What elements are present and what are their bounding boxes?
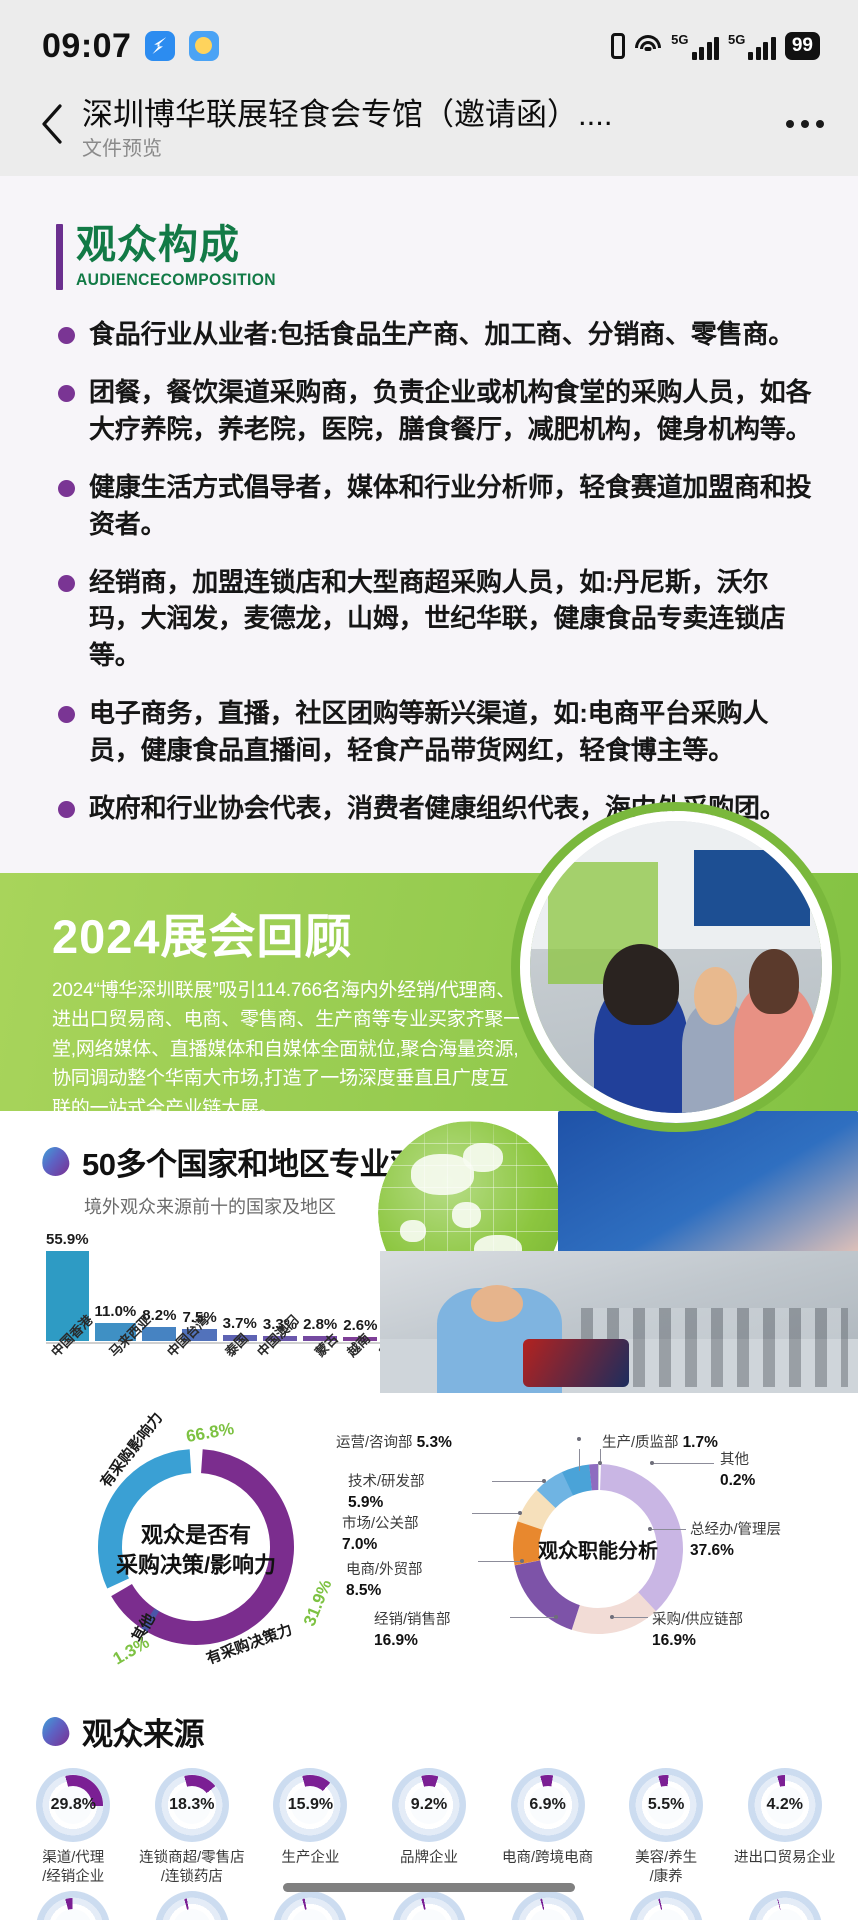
bullet-text: 团餐，餐饮渠道采购商，负责企业或机构食堂的采购人员，如各大疗养院，养老院，医院，… [89,374,814,448]
source-item: 0.4%投融资/金融机构 [725,1891,844,1920]
wifi-icon [634,35,662,57]
sources-title: 观众来源 [82,1709,204,1754]
source-percent-value: 0.4% [748,1891,822,1920]
battery-icon: 99 [785,32,820,60]
bullet-dot-icon [58,480,75,497]
source-item: 3.9%微商/社群团购 [14,1891,133,1920]
callout-label: 技术/研发部 [348,1473,425,1493]
bar-value-label: 11.0% [95,1303,137,1320]
document-preview[interactable]: 观众构成 AUDIENCECOMPOSITION 食品行业从业者:包括食品生产商… [0,176,858,1920]
review-paragraph: 2024“博华深圳联展”吸引114.766名海内外经销/代理商、进出口贸易商、电… [52,976,522,1123]
source-label: 进出口贸易企业 [734,1849,836,1868]
source-percent-value: 1.0% [511,1891,585,1920]
callout-label: 电商/外贸部 [346,1561,423,1581]
more-options-button[interactable] [770,94,824,128]
source-item: 1.0%高校/科研机构/政府/协会/领事馆 [488,1891,607,1920]
source-label: 品牌企业 [400,1849,458,1868]
bar-column: 2.8% [303,1231,337,1341]
bullet-dot-icon [58,327,75,344]
app-badge-icon-2 [189,31,219,61]
crowd-photo [380,1251,858,1393]
source-percent-value: 3.9% [36,1891,110,1920]
callout-market: 市场/公关部 7.0% [342,1515,419,1555]
callout-value: 5.3% [417,1434,452,1451]
signal-icon-1: 5G [671,33,719,60]
bullet-text: 电子商务，直播，社区团购等新兴渠道，如:电商平台采购人员，健康食品直播间，轻食产… [89,695,814,769]
review-title: 2024展会回顾 [52,913,520,960]
status-bar: 09:07 5G 5G 99 [0,0,858,92]
source-percent-value: 4.2% [748,1768,822,1842]
source-ring-gauge: 3.9% [36,1891,110,1920]
donut-center-line2: 采购决策/影响力 [106,1550,286,1580]
chart-x-labels: 中国香港马来西亚中国台湾泰国中国澳门蒙古越南印度尼西亚韩国美国 [46,1347,426,1407]
donut-center-line1: 观众是否有 [106,1520,286,1550]
callout-operations: 运营/咨询部 5.3% [336,1433,452,1454]
bar-chart: 55.9%11.0%8.2%7.5%3.7%3.3%2.8%2.6%2.5%2.… [46,1231,426,1341]
sources-title-row: 观众来源 [0,1709,858,1754]
callout-label: 经销/销售部 [374,1611,451,1631]
network-label-2: 5G [728,33,745,46]
callout-value: 1.7% [683,1434,718,1451]
source-label: 生产企业 [281,1849,339,1868]
list-item: 团餐，餐饮渠道采购商，负责企业或机构食堂的采购人员，如各大疗养院，养老院，医院，… [58,374,814,448]
page-title: 深圳博华联展轻食会专馆（邀请函）.... [82,96,770,134]
source-percent-value: 0.9% [629,1891,703,1920]
source-percent-value: 9.2% [392,1768,466,1842]
callout-value: 8.5% [346,1582,381,1599]
source-ring-gauge: 6.9% [511,1768,585,1842]
status-clock: 09:07 [42,27,131,66]
sources-grid: 29.8%渠道/代理/经销企业18.3%连锁商超/零售店/连锁药店15.9%生产… [0,1754,858,1920]
nav-title-group: 深圳博华联展轻食会专馆（邀请函）.... 文件预览 [76,94,770,161]
source-percent-value: 29.8% [36,1768,110,1842]
review-photo-circle [520,811,832,1123]
source-item: 1.3%直营店/专卖店 [251,1891,370,1920]
source-item: 6.9%电商/跨境电商 [488,1768,607,1887]
bar-category-label: 中国香港 [46,1347,98,1407]
bar-column: 2.6% [343,1231,377,1341]
source-ring-gauge: 0.9% [629,1891,703,1920]
source-item: 0.9%品牌设计/市场咨询 [607,1891,726,1920]
list-item: 食品行业从业者:包括食品生产商、加工商、分销商、零售商。 [58,316,814,353]
bullet-dot-icon [58,575,75,592]
phone-screen: 09:07 5G 5G 99 深圳博华联展轻食会专馆（邀请函）.... [0,0,858,1920]
donut-purchase-center-label: 观众是否有 采购决策/影响力 [106,1520,286,1579]
source-ring-gauge: 4.2% [748,1768,822,1842]
network-label-1: 5G [671,33,688,46]
callout-sales: 经销/销售部 16.9% [374,1611,451,1651]
source-item: 4.2%进出口贸易企业 [725,1768,844,1887]
source-item: 1.4%媒体/互联网/MCN [133,1891,252,1920]
home-indicator[interactable] [283,1883,575,1892]
source-ring-gauge: 18.3% [155,1768,229,1842]
back-button[interactable] [28,94,76,154]
status-bar-left: 09:07 [42,27,219,66]
signal-icon-2: 5G [728,33,776,60]
source-percent-value: 1.3% [392,1891,466,1920]
source-percent-value: 15.9% [273,1768,347,1842]
source-percent-value: 1.3% [273,1891,347,1920]
source-item: 9.2%品牌企业 [370,1768,489,1887]
status-bar-right: 5G 5G 99 [611,32,820,60]
callout-management: 总经办/管理层 37.6% [690,1521,781,1561]
list-item: 经销商，加盟连锁店和大型商超采购人员，如:丹尼斯，沃尔玛，大润发，麦德龙，山姆，… [58,564,814,675]
more-horizontal-icon [786,120,794,128]
source-label: 连锁商超/零售店/连锁药店 [139,1849,245,1887]
booth-photo [558,1111,858,1266]
callout-production: 生产/质监部 1.7% [602,1433,718,1454]
heading-accent-bar [56,224,63,290]
callout-value: 7.0% [342,1536,377,1553]
callout-label: 其他 [720,1451,755,1471]
chevron-left-icon [40,103,64,145]
source-ring-gauge: 15.9% [273,1768,347,1842]
bullet-text: 食品行业从业者:包括食品生产商、加工商、分销商、零售商。 [89,316,794,353]
source-item: 15.9%生产企业 [251,1768,370,1887]
audience-heading-zh: 观众构成 [76,224,293,266]
source-ring-gauge: 9.2% [392,1768,466,1842]
callout-tech: 技术/研发部 5.9% [348,1473,425,1513]
source-ring-gauge: 1.4% [155,1891,229,1920]
droplet-icon [40,1715,72,1748]
bullet-dot-icon [58,706,75,723]
bullet-text: 健康生活方式倡导者，媒体和行业分析师，轻食赛道加盟商和投资者。 [89,469,814,543]
bullet-dot-icon [58,385,75,402]
source-percent-value: 6.9% [511,1768,585,1842]
source-item: 29.8%渠道/代理/经销企业 [14,1768,133,1887]
callout-value: 16.9% [374,1632,418,1649]
source-ring-gauge: 1.3% [392,1891,466,1920]
callout-other: 其他 0.2% [720,1451,755,1491]
section-audience-composition: 观众构成 AUDIENCECOMPOSITION 食品行业从业者:包括食品生产商… [0,176,858,873]
audience-heading: 观众构成 AUDIENCECOMPOSITION [56,224,858,290]
callout-value: 16.9% [652,1632,696,1649]
callout-label: 运营/咨询部 [336,1435,413,1451]
source-ring-gauge: 29.8% [36,1768,110,1842]
source-ring-gauge: 5.5% [629,1768,703,1842]
source-ring-gauge: 0.4% [748,1891,822,1920]
bar-column: 3.7% [223,1231,257,1341]
list-item: 健康生活方式倡导者，媒体和行业分析师，轻食赛道加盟商和投资者。 [58,469,814,543]
source-ring-gauge: 1.3% [273,1891,347,1920]
callout-value: 5.9% [348,1494,383,1511]
source-item: 18.3%连锁商超/零售店/连锁药店 [133,1768,252,1887]
callout-label: 采购/供应链部 [652,1611,743,1631]
bullet-text: 经销商，加盟连锁店和大型商超采购人员，如:丹尼斯，沃尔玛，大润发，麦德龙，山姆，… [89,564,814,675]
source-item: 1.3%包装/供应链/物流 [370,1891,489,1920]
source-percent-value: 18.3% [155,1768,229,1842]
callout-label: 总经办/管理层 [690,1521,781,1541]
page-subtitle: 文件预览 [82,137,770,161]
source-label: 电商/跨境电商 [502,1849,593,1868]
source-percent-value: 1.4% [155,1891,229,1920]
section-donut-charts: 观众是否有 采购决策/影响力 有采购影响力 66.8% 有采购决策力 31.9%… [0,1411,858,1703]
source-label: 渠道/代理/经销企业 [42,1849,104,1887]
section-countries-bar-chart: 50多个国家和地区专业观众 境外观众来源前十的国家及地区 55.9%11.0%8… [0,1111,858,1411]
callout-value: 37.6% [690,1542,734,1559]
source-ring-gauge: 1.0% [511,1891,585,1920]
callout-procurement: 采购/供应链部 16.9% [652,1611,743,1651]
donut-function-center-label: 观众职能分析 [538,1534,658,1563]
app-badge-icon-1 [145,31,175,61]
vibrate-icon [611,33,625,59]
callout-label: 市场/公关部 [342,1515,419,1535]
source-percent-value: 5.5% [629,1768,703,1842]
bar-value-label: 55.9% [46,1231,89,1248]
callout-label: 生产/质监部 [602,1435,679,1451]
callout-ecommerce: 电商/外贸部 8.5% [346,1561,423,1601]
section-2024-review: 2024展会回顾 2024“博华深圳联展”吸引114.766名海内外经销/代理商… [0,873,858,1111]
nav-bar: 深圳博华联展轻食会专馆（邀请函）.... 文件预览 [0,92,858,176]
source-label: 美容/养生/康养 [635,1849,697,1887]
bullet-dot-icon [58,801,75,818]
audience-heading-en: AUDIENCECOMPOSITION [76,270,276,290]
list-item: 电子商务，直播，社区团购等新兴渠道，如:电商平台采购人员，健康食品直播间，轻食产… [58,695,814,769]
droplet-icon [40,1145,72,1178]
source-item: 5.5%美容/养生/康养 [607,1768,726,1887]
callout-value: 0.2% [720,1472,755,1489]
donut-purchase-influence: 观众是否有 采购决策/影响力 有采购影响力 66.8% 有采购决策力 31.9%… [36,1415,356,1685]
donut-function-analysis: 观众职能分析 运营/咨询部 5.3% 生产/质监部 1.7% 其他 0.2% [352,1411,852,1701]
audience-bullet-list: 食品行业从业者:包括食品生产商、加工商、分销商、零售商。 团餐，餐饮渠道采购商，… [58,316,814,827]
